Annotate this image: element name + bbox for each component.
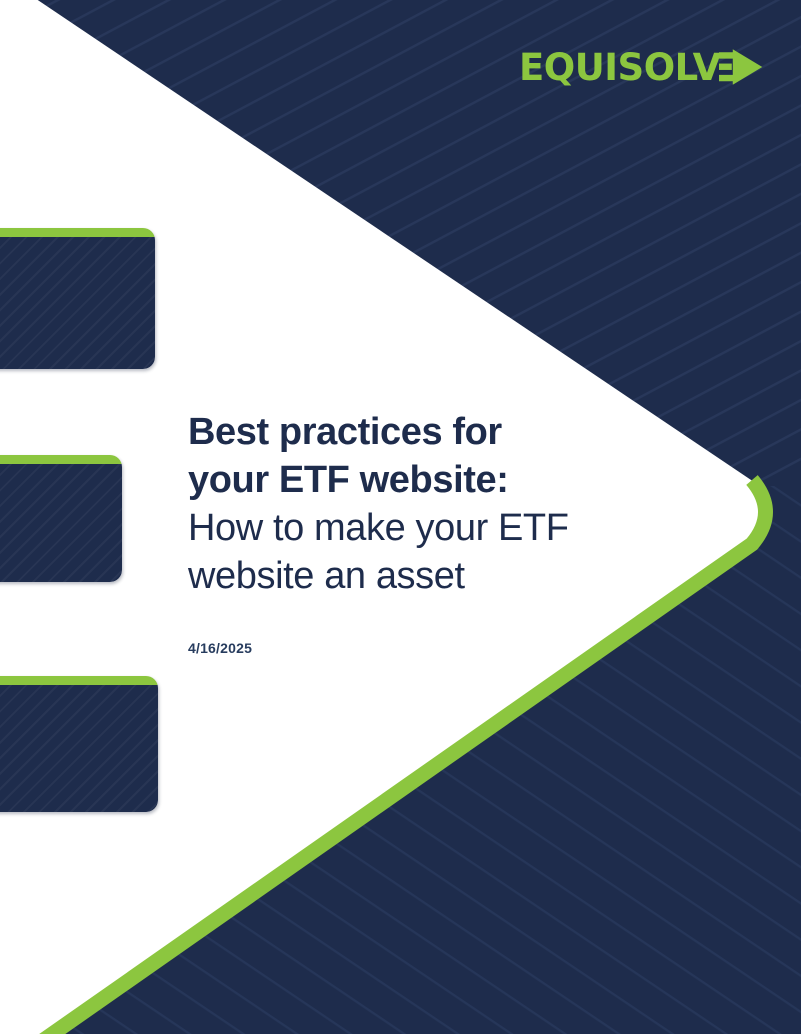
square-accent-bar [0, 228, 155, 237]
title-line-1: Best practices for [188, 408, 668, 456]
square-accent-bar [0, 676, 158, 685]
title-line-2: your ETF website: [188, 456, 668, 504]
decorative-square-1 [0, 228, 155, 369]
decorative-square-3 [0, 676, 158, 812]
title-line-3: How to make your ETF [188, 504, 668, 552]
title-line-4: website an asset [188, 552, 668, 600]
page-title: Best practices for your ETF website: How… [188, 408, 668, 600]
equisolve-logo[interactable]: EQUISOLV [519, 44, 764, 90]
logo-wordmark-text: EQUISOLV [519, 49, 721, 86]
square-accent-bar [0, 455, 122, 464]
document-date: 4/16/2025 [188, 640, 252, 656]
square-body [0, 237, 155, 369]
equisolve-arrow-icon [719, 47, 764, 87]
decorative-square-2 [0, 455, 122, 582]
square-body [0, 464, 122, 582]
cover-page: EQUISOLV Best practices for your ETF web… [0, 0, 801, 1034]
square-body [0, 685, 158, 812]
